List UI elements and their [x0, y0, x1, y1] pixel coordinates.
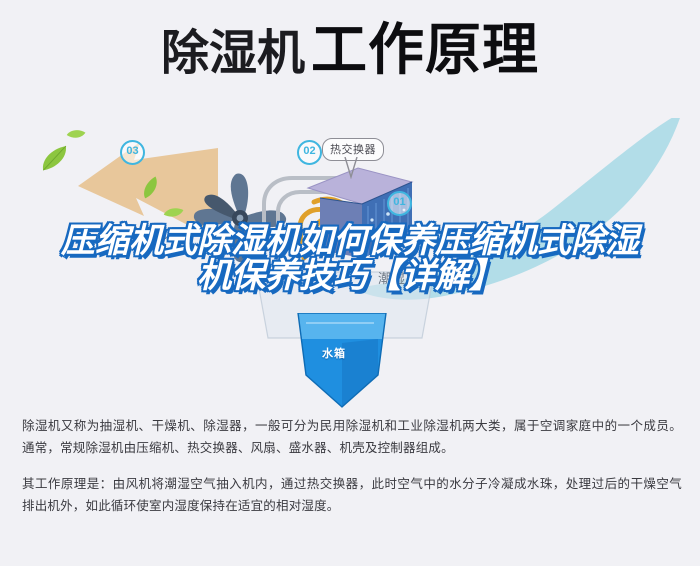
water-tank-icon — [288, 313, 396, 409]
water-tank-label: 水箱 — [322, 345, 346, 361]
article-body: 除湿机又称为抽湿机、干燥机、除湿器，一般可分为民用除湿机和工业除湿机两大类，属于… — [22, 415, 682, 531]
moist-air-label: 潮湿空气 — [378, 268, 434, 287]
page-title: 除湿机工作原理 — [0, 22, 700, 78]
page-title-subject: 除湿机 — [161, 27, 305, 80]
dry-air-label: 干燥空气 — [112, 223, 168, 242]
body-paragraph-2: 其工作原理是：由风机将潮湿空气抽入机内，通过热交换器，此时空气中的水分子冷凝成水… — [22, 473, 682, 517]
diagram-badge-01: 01 — [387, 191, 412, 216]
diagram-badge-02: 02 — [297, 140, 322, 165]
callout-pointer-icon — [343, 157, 359, 179]
body-paragraph-1: 除湿机又称为抽湿机、干燥机、除湿器，一般可分为民用除湿机和工业除湿机两大类，属于… — [22, 415, 682, 459]
leaf-icon — [38, 144, 73, 172]
diagram-badge-03: 03 — [120, 140, 145, 165]
page-title-topic: 工作原理 — [311, 18, 539, 81]
leaf-icon — [66, 125, 86, 143]
dehumidifier-diagram: 03 02 01 热交换器 干燥空气 潮湿空气 水箱 02 空气经过蒸发器冷凝成… — [0, 118, 700, 414]
page-root: 除湿机工作原理 — [0, 0, 700, 566]
